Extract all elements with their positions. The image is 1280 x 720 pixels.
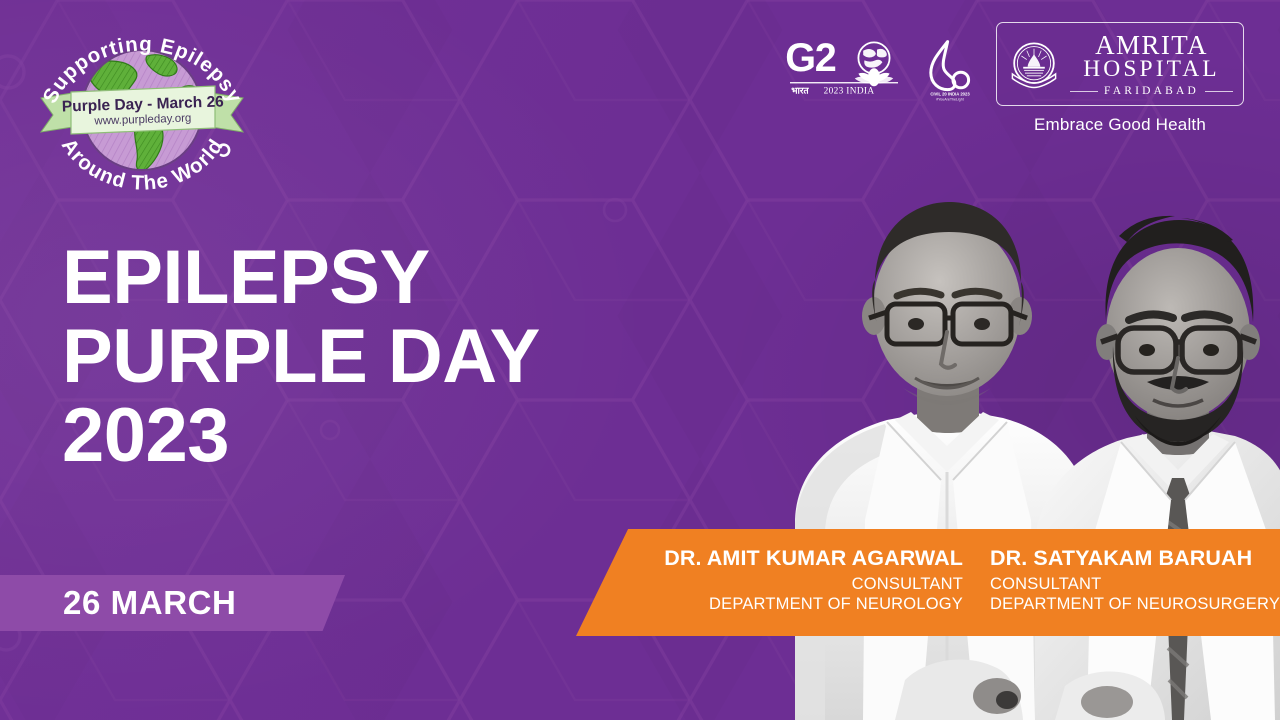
page-title: EPILEPSY PURPLE DAY 2023 <box>62 238 702 475</box>
g20-logo: G2 भारत 2023 IN <box>784 22 904 97</box>
amrita-wordmark: AMRITA HOSPITAL FARIDABAD <box>1070 32 1233 97</box>
c20-caption-line1: CIVIL 20 INDIA 2023 <box>930 92 970 97</box>
speaker-left-department: DEPARTMENT OF NEUROLOGY <box>646 594 963 614</box>
speaker-card-left: DR. AMIT KUMAR AGARWAL CONSULTANT DEPART… <box>646 546 963 614</box>
headline-line-3: 2023 <box>62 396 702 475</box>
speaker-right-role: CONSULTANT <box>990 574 1280 594</box>
amrita-subname: HOSPITAL <box>1070 58 1233 82</box>
amrita-rule-right <box>1205 91 1233 92</box>
speaker-card-right: DR. SATYAKAM BARUAH CONSULTANT DEPARTMEN… <box>990 546 1280 614</box>
speaker-left-role: CONSULTANT <box>646 574 963 594</box>
amrita-hospital-logo: AMRITA HOSPITAL FARIDABAD Embrace Good H… <box>996 22 1244 135</box>
c20-civil20-logo: CIVIL 20 INDIA 2023 #YouAreTheLight <box>926 22 974 103</box>
speaker-right-name: DR. SATYAKAM BARUAH <box>990 546 1280 571</box>
amrita-rule-left <box>1070 91 1098 92</box>
g20-year-country: 2023 INDIA <box>824 86 875 96</box>
headline-line-1: EPILEPSY <box>62 238 702 317</box>
g20-wordmark: G2 <box>785 36 836 80</box>
doctor-right-figure <box>1035 216 1280 720</box>
c20-caption-line2: #YouAreTheLight <box>936 97 964 101</box>
purple-day-logo: Purple Day - March 26 www.purpleday.org … <box>35 22 250 192</box>
g20-hindi-text: भारत <box>791 85 809 95</box>
amrita-name: AMRITA <box>1070 32 1233 59</box>
speaker-right-department: DEPARTMENT OF NEUROSURGERY <box>990 594 1280 614</box>
amrita-emblem-icon <box>1007 38 1061 92</box>
speaker-left-name: DR. AMIT KUMAR AGARWAL <box>646 546 963 571</box>
event-date-text: 26 MARCH <box>0 584 237 622</box>
partner-logo-row: G2 भारत 2023 IN <box>784 22 1244 135</box>
event-date-band: 26 MARCH <box>0 575 345 631</box>
amrita-logo-frame: AMRITA HOSPITAL FARIDABAD <box>996 22 1244 106</box>
epilepsy-purple-day-poster: Purple Day - March 26 www.purpleday.org … <box>0 0 1280 720</box>
amrita-city: FARIDABAD <box>1104 86 1199 98</box>
amrita-city-row: FARIDABAD <box>1070 86 1233 98</box>
speakers-banner: DR. AMIT KUMAR AGARWAL CONSULTANT DEPART… <box>576 529 1280 636</box>
headline-line-2: PURPLE DAY <box>62 317 702 396</box>
